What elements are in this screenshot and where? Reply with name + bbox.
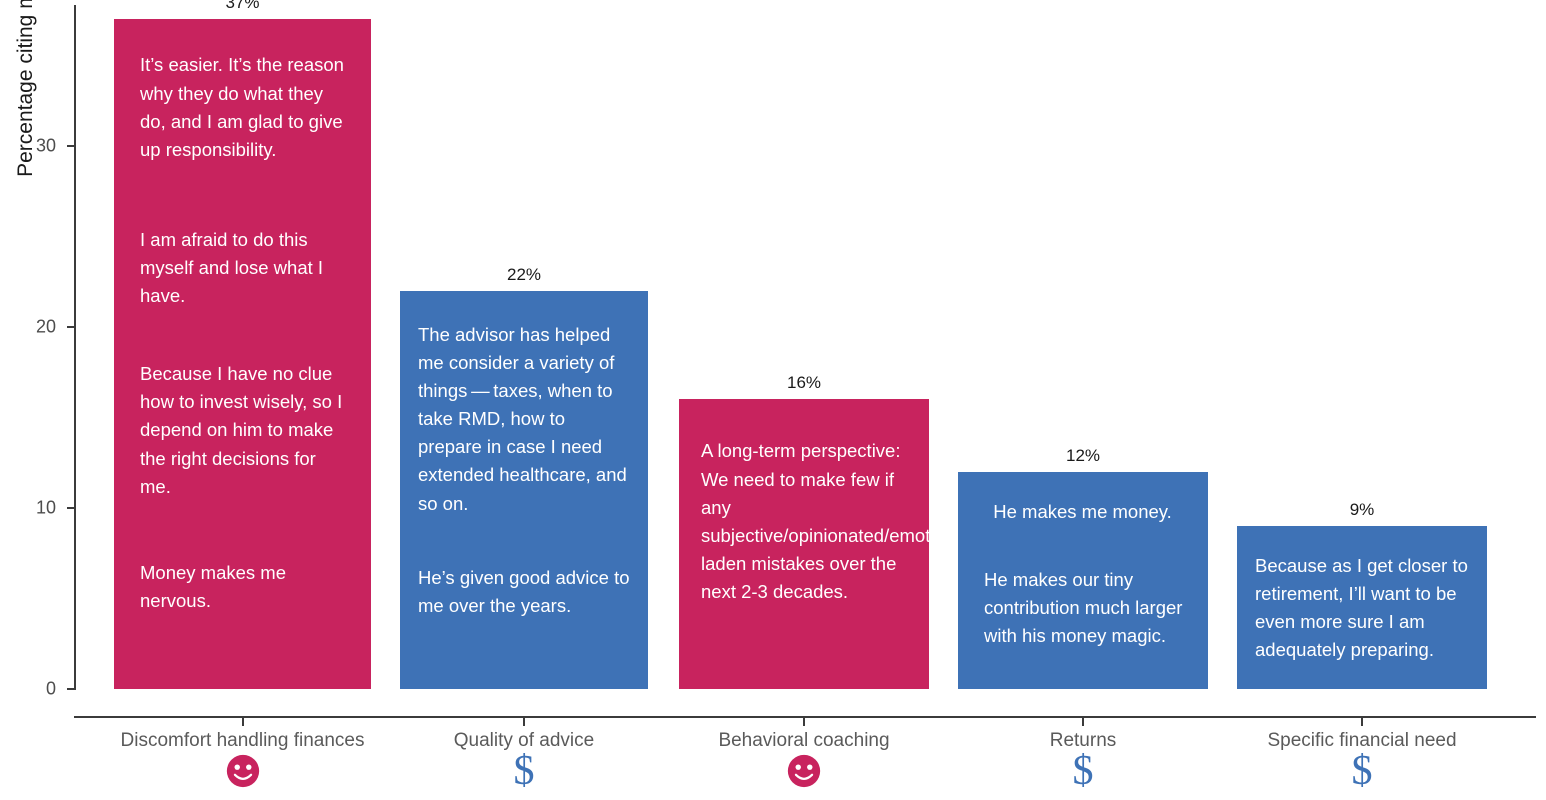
bar-returns[interactable]: He makes me money.He makes our tiny cont…	[958, 472, 1208, 689]
bar-specific-financial-need[interactable]: Because as I get closer to retirement, I…	[1237, 526, 1487, 689]
bar-quote: Because I have no clue how to invest wis…	[140, 360, 349, 501]
bar-value-label: 12%	[958, 446, 1208, 466]
bar-quality-of-advice[interactable]: The advisor has helped me consider a var…	[400, 291, 648, 689]
dollar-icon: $	[1043, 754, 1123, 788]
bar-quote: A long-term perspective: We need to make…	[701, 437, 915, 606]
bar-quote: The advisor has helped me consider a var…	[418, 321, 630, 518]
bar-quote: He makes me money.	[984, 498, 1194, 526]
bar-quote: Money makes me nervous.	[140, 559, 349, 615]
bar-quote: I am afraid to do this myself and lose w…	[140, 226, 349, 310]
dollar-icon: $	[1322, 754, 1402, 788]
smiley-icon	[226, 754, 260, 788]
plot-area: It’s easier. It’s the reason why they do…	[0, 0, 1546, 800]
bar-discomfort-handling-finances[interactable]: It’s easier. It’s the reason why they do…	[114, 19, 371, 689]
bar-quote: He makes our tiny contribution much larg…	[984, 566, 1194, 650]
bar-value-label: 37%	[114, 0, 371, 13]
dollar-icon: $	[514, 754, 535, 788]
x-tick-mark	[242, 718, 244, 726]
bar-quote: It’s easier. It’s the reason why they do…	[140, 51, 349, 163]
dollar-icon: $	[484, 754, 564, 788]
bar-quote-list: He makes me money.He makes our tiny cont…	[958, 472, 1208, 689]
bar-quote-list: A long-term perspective: We need to make…	[679, 399, 929, 689]
bar-value-label: 9%	[1237, 500, 1487, 520]
dollar-icon: $	[1073, 754, 1094, 788]
dollar-icon: $	[1352, 754, 1373, 788]
x-tick-mark	[1361, 718, 1363, 726]
bar-quote-list: Because as I get closer to retirement, I…	[1237, 526, 1487, 689]
bar-quote-list: The advisor has helped me consider a var…	[400, 291, 648, 689]
bar-behavioral-coaching[interactable]: A long-term perspective: We need to make…	[679, 399, 929, 689]
bar-quote: Because as I get closer to retirement, I…	[1255, 552, 1469, 664]
bar-quote-list: It’s easier. It’s the reason why they do…	[114, 19, 371, 689]
x-tick-mark	[523, 718, 525, 726]
smiley-icon	[203, 754, 283, 788]
bar-value-label: 16%	[679, 373, 929, 393]
bar-value-label: 22%	[400, 265, 648, 285]
smiley-icon	[787, 754, 821, 788]
x-axis-line	[74, 716, 1536, 718]
x-tick-mark	[1082, 718, 1084, 726]
x-tick-mark	[803, 718, 805, 726]
smiley-icon	[764, 754, 844, 788]
bar-quote: He’s given good advice to me over the ye…	[418, 564, 630, 620]
bar-chart: Percentage citing motivation 0102030 It’…	[0, 0, 1546, 800]
